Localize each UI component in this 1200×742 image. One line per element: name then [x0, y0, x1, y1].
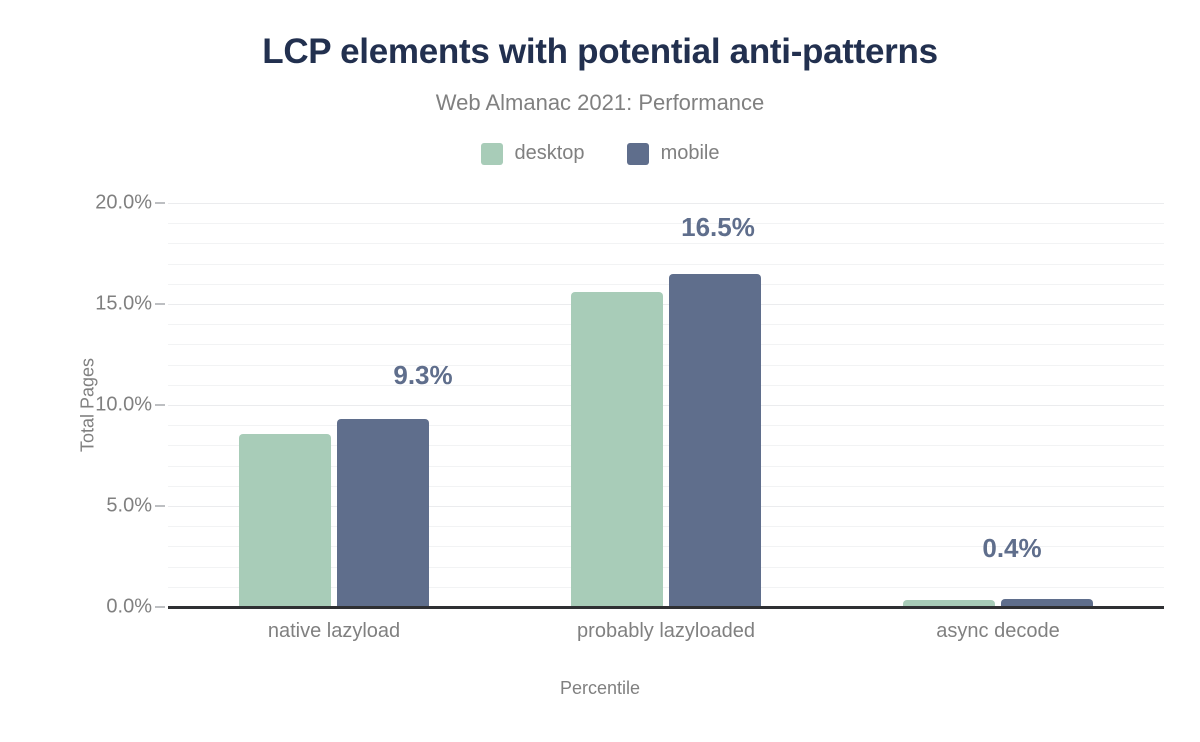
- gridline: [168, 284, 1164, 285]
- x-axis-line: [168, 606, 1164, 609]
- gridline: [168, 405, 1164, 406]
- legend-item-mobile[interactable]: mobile: [627, 142, 720, 165]
- legend-swatch-icon: [481, 143, 503, 165]
- y-tick-label: 15.0%: [95, 293, 152, 316]
- x-tick-label: native lazyload: [268, 620, 400, 643]
- bar-value-label: 9.3%: [393, 360, 452, 391]
- chart-figure: LCP elements with potential anti-pattern…: [0, 0, 1200, 742]
- y-tick-mark: [155, 202, 165, 204]
- y-tick-label: 0.0%: [106, 596, 152, 619]
- gridline: [168, 365, 1164, 366]
- y-tick-mark: [155, 404, 165, 406]
- legend-label: mobile: [661, 142, 720, 165]
- gridline: [168, 304, 1164, 305]
- legend-label: desktop: [515, 142, 585, 165]
- bar-mobile-1[interactable]: [669, 274, 761, 607]
- gridline: [168, 344, 1164, 345]
- gridline: [168, 425, 1164, 426]
- y-tick-label: 10.0%: [95, 394, 152, 417]
- y-tick-mark: [155, 505, 165, 507]
- gridline: [168, 324, 1164, 325]
- gridline: [168, 203, 1164, 204]
- bar-desktop-1[interactable]: [571, 292, 663, 607]
- chart-subtitle: Web Almanac 2021: Performance: [0, 90, 1200, 116]
- y-tick-label: 5.0%: [106, 495, 152, 518]
- y-tick-mark: [155, 303, 165, 305]
- bar-value-label: 16.5%: [681, 212, 755, 243]
- legend-swatch-icon: [627, 143, 649, 165]
- legend-item-desktop[interactable]: desktop: [481, 142, 585, 165]
- y-tick-mark: [155, 606, 165, 608]
- bar-mobile-0[interactable]: [337, 419, 429, 607]
- gridline: [168, 264, 1164, 265]
- y-tick-label: 20.0%: [95, 192, 152, 215]
- bar-desktop-0[interactable]: [239, 434, 331, 607]
- chart-title: LCP elements with potential anti-pattern…: [0, 32, 1200, 72]
- x-tick-label: async decode: [936, 620, 1059, 643]
- gridline: [168, 385, 1164, 386]
- bar-value-label: 0.4%: [982, 533, 1041, 564]
- gridline: [168, 243, 1164, 244]
- gridline: [168, 223, 1164, 224]
- x-axis-title: Percentile: [0, 678, 1200, 699]
- x-tick-label: probably lazyloaded: [577, 620, 755, 643]
- chart-legend: desktopmobile: [0, 142, 1200, 165]
